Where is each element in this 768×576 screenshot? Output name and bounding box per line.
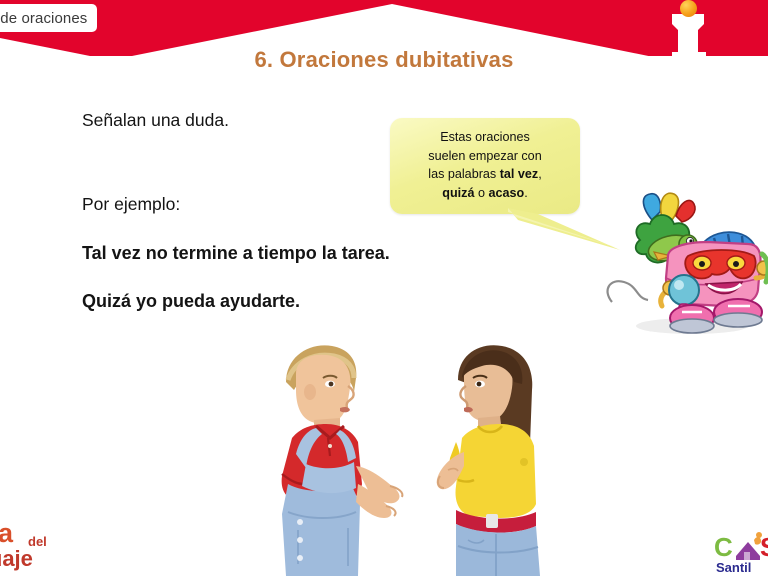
example-sentence-2: Quizá yo pueda ayudarte.	[82, 291, 300, 312]
section-tab-label: es de oraciones	[0, 10, 87, 27]
mascot-character-icon	[596, 186, 768, 336]
children-photo	[252, 334, 552, 576]
bubble-line-3: las palabras tal vez,	[390, 165, 580, 184]
bubble-line-2: suelen empezar con	[390, 147, 580, 166]
example-intro-text: Por ejemplo:	[82, 194, 180, 215]
slide-canvas: es de oraciones 6. Oraciones dubitativas…	[0, 0, 768, 576]
example-sentence-1: Tal vez no termine a tiempo la tarea.	[82, 243, 390, 264]
logo-right-letter1: C	[714, 532, 733, 562]
logo-right-caption: Santil	[716, 560, 751, 575]
bubble-line-1: Estas oraciones	[390, 128, 580, 147]
bubble-line-4: quizá o acaso.	[390, 184, 580, 203]
speech-bubble: Estas oraciones suelen empezar con las p…	[390, 118, 590, 248]
logo-left-word3: nguaje	[0, 546, 33, 571]
page-title: 6. Oraciones dubitativas	[0, 47, 768, 73]
definition-text: Señalan una duda.	[82, 110, 229, 131]
section-tab[interactable]: es de oraciones	[0, 2, 99, 34]
casa-santillana-logo: C S Santil	[714, 528, 768, 576]
casa-del-lenguaje-logo: asa del nguaje	[0, 506, 100, 576]
logo-left-word1: asa	[0, 518, 14, 548]
emblem-orange-dot-icon	[680, 0, 697, 17]
logo-right-letter2: S	[760, 532, 768, 562]
speech-bubble-text: Estas oraciones suelen empezar con las p…	[390, 128, 580, 202]
